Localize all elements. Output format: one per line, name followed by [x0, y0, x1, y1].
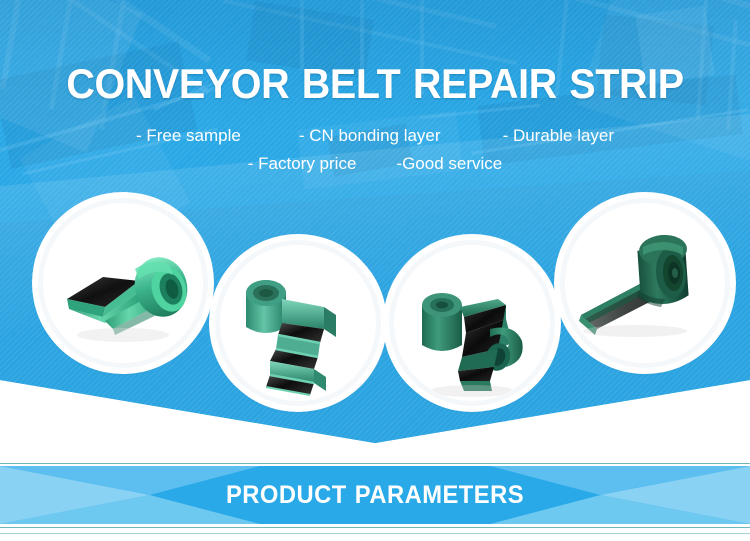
product-image-circle-1: [38, 198, 208, 368]
feature-item: - Free sample: [136, 126, 241, 146]
feature-item: - Factory price: [248, 154, 357, 174]
product-illustration: [43, 203, 203, 363]
product-illustration: [565, 203, 725, 363]
section-header-area: PRODUCT PARAMETERS: [0, 455, 750, 541]
product-photo-roll-with-looped-strip: [394, 245, 550, 401]
product-photo-zigzag-unrolled-strip: [220, 245, 376, 401]
divider-line-bottom: [0, 527, 750, 528]
product-image-circle-2: [215, 240, 381, 406]
section-title: PRODUCT PARAMETERS: [19, 466, 732, 524]
feature-list-row-2: - Factory price-Good service: [0, 154, 750, 174]
divider-line-top: [0, 463, 750, 464]
feature-item: -Good service: [396, 154, 502, 174]
product-photo-roll-with-extended-tail: [565, 203, 725, 363]
feature-item: - Durable layer: [503, 126, 615, 146]
feature-item: - CN bonding layer: [299, 126, 441, 146]
product-photo-folded-strip-with-roll: [43, 203, 203, 363]
product-illustration: [394, 245, 550, 401]
product-illustration: [220, 245, 376, 401]
divider-line-bottom-secondary: [0, 533, 750, 534]
feature-list-row-1: - Free sample- CN bonding layer- Durable…: [0, 126, 750, 146]
product-banner: CONVEYOR BELT REPAIR STRIP - Free sample…: [0, 0, 750, 541]
product-image-circle-3: [389, 240, 555, 406]
banner-title: CONVEYOR BELT REPAIR STRIP: [23, 62, 728, 106]
product-image-circle-4: [560, 198, 730, 368]
